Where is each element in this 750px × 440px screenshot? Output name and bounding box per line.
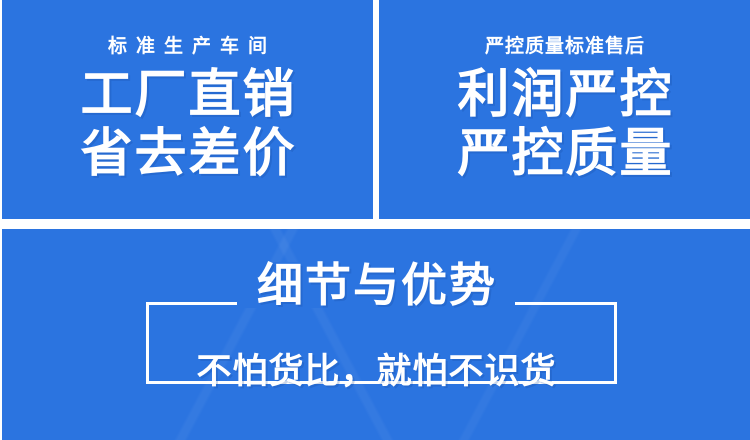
factory-direct-headline-line2: 省去差价 [78, 127, 296, 182]
quality-control-eyebrow: 严控质量标准售后 [484, 37, 645, 56]
factory-direct-headline-line1: 工厂直销 [78, 68, 296, 123]
quality-control-headline-line2: 严控质量 [455, 127, 673, 182]
top-panel-row: 标准生产车间 工厂直销 省去差价 严控质量标准售后 利润严控 严控质量 [0, 0, 750, 220]
details-subtitle: 不怕货比，就怕不识货 [2, 354, 750, 389]
panel-quality-control-content: 严控质量标准售后 利润严控 严控质量 [379, 0, 750, 219]
panel-details-advantages: 细节与优势 不怕货比，就怕不识货 [2, 229, 750, 440]
quality-control-headline-line1: 利润严控 [455, 68, 673, 123]
panel-factory-direct-content: 标准生产车间 工厂直销 省去差价 [2, 0, 373, 219]
panel-factory-direct: 标准生产车间 工厂直销 省去差价 [2, 0, 373, 219]
panel-quality-control: 严控质量标准售后 利润严控 严控质量 [379, 0, 750, 219]
factory-direct-eyebrow: 标准生产车间 [99, 37, 276, 56]
promo-banner: 标准生产车间 工厂直销 省去差价 严控质量标准售后 利润严控 严控质量 细节与优… [0, 0, 750, 440]
